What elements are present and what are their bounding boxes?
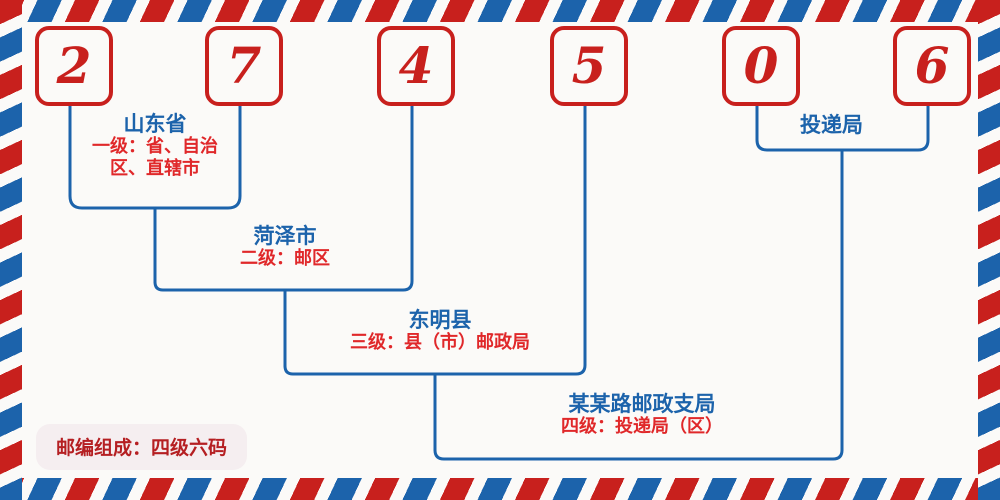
postcode-composition-badge: 邮编组成：四级六码 — [36, 424, 247, 470]
delivery-office-title: 投递局 — [800, 109, 863, 139]
postcode-structure-diagram: 2 7 4 5 0 6 山东省 一级：省、自治区、直辖市 菏泽市 二级：邮区 东… — [0, 0, 1000, 500]
postcode-digit-2[interactable]: 7 — [205, 26, 283, 106]
postcode-digit-1[interactable]: 2 — [35, 26, 113, 106]
bracket-level-4 — [435, 450, 842, 459]
level-3-title: 东明县 — [300, 308, 580, 332]
postcode-digit-4[interactable]: 5 — [550, 26, 628, 106]
hierarchy-node-level-1: 山东省 一级：省、自治区、直辖市 — [76, 112, 234, 181]
hierarchy-node-level-2: 菏泽市 二级：邮区 — [195, 224, 375, 270]
level-2-title: 菏泽市 — [195, 224, 375, 248]
level-4-title: 某某路邮政支局 — [498, 392, 786, 416]
level-1-title: 山东省 — [76, 112, 234, 136]
level-2-subtitle: 二级：邮区 — [195, 248, 375, 271]
postcode-digit-3[interactable]: 4 — [377, 26, 455, 106]
hierarchy-node-level-3: 东明县 三级：县（市）邮政局 — [300, 308, 580, 354]
level-3-subtitle: 三级：县（市）邮政局 — [300, 332, 580, 355]
level-4-subtitle: 四级：投递局（区） — [498, 416, 786, 439]
postcode-digit-5[interactable]: 0 — [722, 26, 800, 106]
hierarchy-node-level-4: 某某路邮政支局 四级：投递局（区） — [498, 392, 786, 438]
postcode-digit-6[interactable]: 6 — [893, 26, 971, 106]
level-1-subtitle: 一级：省、自治区、直辖市 — [76, 136, 234, 181]
